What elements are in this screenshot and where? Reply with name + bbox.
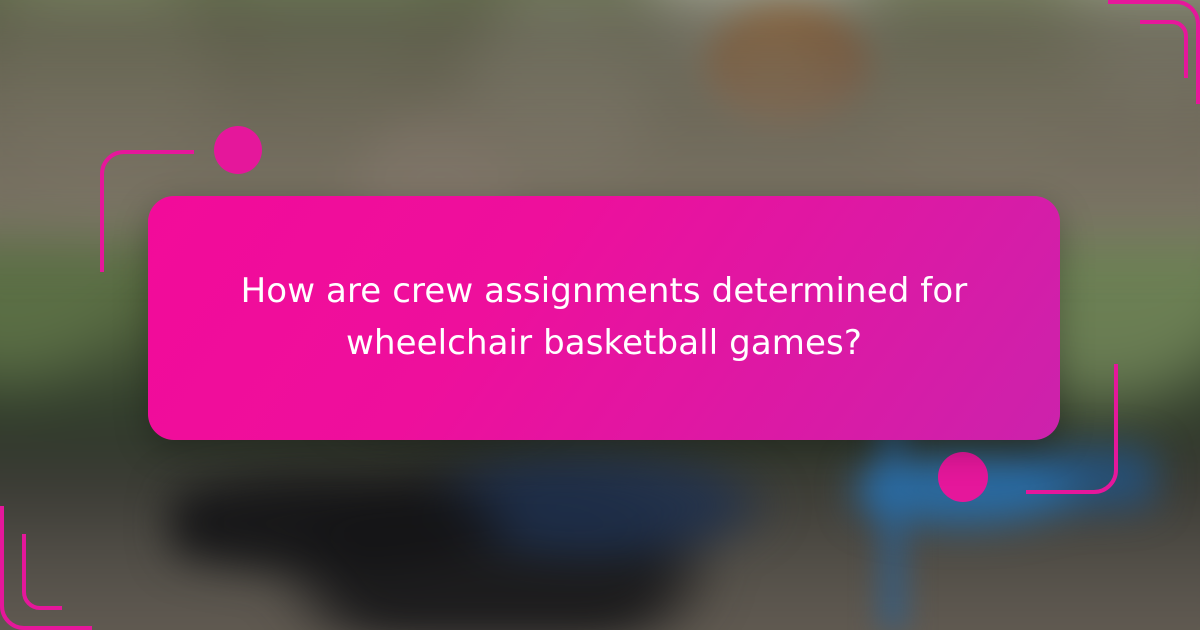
blue-bench-blur <box>855 430 1155 550</box>
social-card-canvas: How are crew assignments determined for … <box>0 0 1200 630</box>
circle-dot-right-icon <box>938 452 988 502</box>
headline-card: How are crew assignments determined for … <box>148 196 1060 440</box>
circle-dot-left-icon <box>214 126 262 174</box>
headline-text: How are crew assignments determined for … <box>224 266 984 369</box>
